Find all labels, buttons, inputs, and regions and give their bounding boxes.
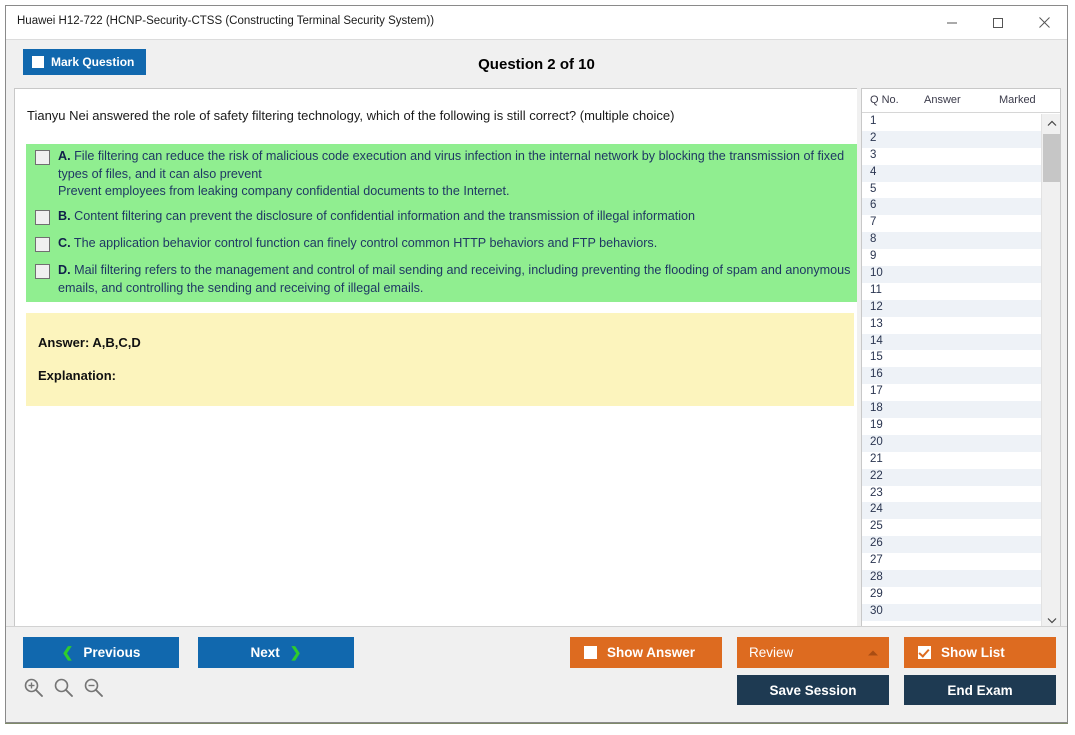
question-list-header: Q No. Answer Marked xyxy=(862,89,1060,113)
question-list-row[interactable]: 6 xyxy=(862,198,1041,215)
question-list-row[interactable]: 3 xyxy=(862,148,1041,165)
question-list-row[interactable]: 14 xyxy=(862,334,1041,351)
question-list-row-qno: 6 xyxy=(870,199,876,211)
option-a-letter: A. xyxy=(58,149,71,163)
question-list-row[interactable]: 12 xyxy=(862,300,1041,317)
question-list-row-qno: 16 xyxy=(870,368,883,380)
question-list-row-qno: 7 xyxy=(870,216,876,228)
question-list-row-qno: 3 xyxy=(870,149,876,161)
question-list-row[interactable]: 1 xyxy=(862,114,1041,131)
option-b-text: B. Content filtering can prevent the dis… xyxy=(58,208,852,226)
question-list-row[interactable]: 23 xyxy=(862,486,1041,503)
maximize-button[interactable] xyxy=(975,6,1021,39)
question-list-row[interactable]: 29 xyxy=(862,587,1041,604)
option-row-d[interactable]: D. Mail filtering refers to the manageme… xyxy=(26,258,857,302)
question-list-row-qno: 22 xyxy=(870,470,883,482)
next-button-label: Next xyxy=(251,645,280,660)
zoom-reset-icon[interactable] xyxy=(53,677,74,703)
zoom-controls xyxy=(23,677,104,703)
minimize-icon xyxy=(946,17,958,29)
chevron-right-icon: ❯ xyxy=(290,644,302,661)
show-list-button[interactable]: Show List xyxy=(904,637,1056,668)
option-row-a[interactable]: A. File filtering can reduce the risk of… xyxy=(26,144,857,206)
question-list-row-qno: 15 xyxy=(870,351,883,363)
option-c-checkbox[interactable] xyxy=(35,237,50,252)
answer-panel: Answer: A,B,C,D Explanation: xyxy=(26,313,854,406)
question-list-row-qno: 12 xyxy=(870,301,883,313)
minimize-button[interactable] xyxy=(929,6,975,39)
maximize-icon xyxy=(992,17,1004,29)
close-button[interactable] xyxy=(1021,6,1067,39)
question-list-row-qno: 20 xyxy=(870,436,883,448)
window-title: Huawei H12-722 (HCNP-Security-CTSS (Cons… xyxy=(17,15,434,27)
option-c-body: The application behavior control functio… xyxy=(74,236,657,250)
end-exam-label: End Exam xyxy=(947,683,1012,698)
question-list-row[interactable]: 4 xyxy=(862,165,1041,182)
show-answer-checkbox[interactable] xyxy=(584,646,597,659)
question-list-body[interactable]: 1234567891011121314151617181920212223242… xyxy=(862,114,1041,628)
question-list-row[interactable]: 19 xyxy=(862,418,1041,435)
chevron-left-icon: ❮ xyxy=(62,644,74,661)
show-answer-label: Show Answer xyxy=(607,645,695,660)
question-list-row-qno: 29 xyxy=(870,588,883,600)
question-list-row-qno: 11 xyxy=(870,284,882,296)
question-list-row[interactable]: 2 xyxy=(862,131,1041,148)
question-list-row-qno: 18 xyxy=(870,402,883,414)
question-list-row-qno: 5 xyxy=(870,183,876,195)
caret-up-icon xyxy=(867,645,879,660)
explanation-line: Explanation: xyxy=(38,368,854,383)
review-label: Review xyxy=(749,645,793,660)
option-d-letter: D. xyxy=(58,263,71,277)
question-list-row-qno: 27 xyxy=(870,554,883,566)
question-list-row[interactable]: 28 xyxy=(862,570,1041,587)
zoom-out-icon[interactable] xyxy=(83,677,104,703)
question-list-row[interactable]: 26 xyxy=(862,536,1041,553)
question-list-row[interactable]: 21 xyxy=(862,452,1041,469)
option-d-text: D. Mail filtering refers to the manageme… xyxy=(58,262,852,297)
bottom-toolbar: ❮ Previous Next ❯ Show Answer Review Sho… xyxy=(6,626,1067,722)
question-list-row[interactable]: 15 xyxy=(862,350,1041,367)
question-list-scrollbar[interactable] xyxy=(1041,114,1060,628)
mark-question-button[interactable]: Mark Question xyxy=(23,49,146,75)
scrollbar-thumb[interactable] xyxy=(1043,134,1060,182)
option-a-checkbox[interactable] xyxy=(35,150,50,165)
question-list-row-qno: 21 xyxy=(870,453,883,465)
option-c-letter: C. xyxy=(58,236,71,250)
question-list-row-qno: 24 xyxy=(870,503,883,515)
previous-button[interactable]: ❮ Previous xyxy=(23,637,179,668)
answer-line: Answer: A,B,C,D xyxy=(38,335,854,350)
question-list-row[interactable]: 8 xyxy=(862,232,1041,249)
scroll-up-button[interactable] xyxy=(1042,114,1061,131)
question-list-row-qno: 4 xyxy=(870,166,876,178)
mark-question-checkbox[interactable] xyxy=(32,56,44,68)
column-header-marked: Marked xyxy=(999,94,1036,106)
question-stem: Tianyu Nei answered the role of safety f… xyxy=(27,107,845,125)
question-counter: Question 2 of 10 xyxy=(6,40,1067,88)
option-c-text: C. The application behavior control func… xyxy=(58,235,852,253)
question-list-row-qno: 26 xyxy=(870,537,883,549)
question-list-row-qno: 25 xyxy=(870,520,883,532)
end-exam-button[interactable]: End Exam xyxy=(904,675,1056,705)
question-list-row-qno: 28 xyxy=(870,571,883,583)
question-list-row[interactable]: 20 xyxy=(862,435,1041,452)
question-list-row[interactable]: 13 xyxy=(862,317,1041,334)
question-list-row-qno: 2 xyxy=(870,132,876,144)
close-icon xyxy=(1038,16,1051,29)
question-list-row-qno: 19 xyxy=(870,419,883,431)
option-a-text: A. File filtering can reduce the risk of… xyxy=(58,148,852,201)
zoom-in-icon[interactable] xyxy=(23,677,44,703)
option-d-body: Mail filtering refers to the management … xyxy=(58,263,850,295)
question-list-row[interactable]: 27 xyxy=(862,553,1041,570)
question-list-row[interactable]: 18 xyxy=(862,401,1041,418)
option-b-body: Content filtering can prevent the disclo… xyxy=(74,209,695,223)
exam-application-window: Huawei H12-722 (HCNP-Security-CTSS (Cons… xyxy=(5,5,1068,723)
option-b-checkbox[interactable] xyxy=(35,210,50,225)
question-list-row-qno: 17 xyxy=(870,385,883,397)
question-list-row[interactable]: 17 xyxy=(862,384,1041,401)
question-list-panel: Q No. Answer Marked 12345678910111213141… xyxy=(861,88,1061,628)
question-list-row[interactable]: 24 xyxy=(862,502,1041,519)
question-list-row[interactable]: 10 xyxy=(862,266,1041,283)
chevron-up-icon xyxy=(1047,114,1057,132)
question-list-row[interactable]: 16 xyxy=(862,367,1041,384)
question-list-row-qno: 8 xyxy=(870,233,876,245)
review-dropdown[interactable]: Review xyxy=(737,637,889,668)
question-list-row[interactable]: 5 xyxy=(862,182,1041,199)
mark-question-label: Mark Question xyxy=(51,55,134,69)
question-list-row-qno: 30 xyxy=(870,605,883,617)
show-list-label: Show List xyxy=(941,645,1005,660)
question-list-row[interactable]: 30 xyxy=(862,604,1041,621)
next-button[interactable]: Next ❯ xyxy=(198,637,354,668)
question-list-row-qno: 13 xyxy=(870,318,883,330)
option-d-checkbox[interactable] xyxy=(35,264,50,279)
show-answer-button[interactable]: Show Answer xyxy=(570,637,722,668)
question-list-row[interactable]: 9 xyxy=(862,249,1041,266)
question-list-row[interactable]: 22 xyxy=(862,469,1041,486)
save-session-button[interactable]: Save Session xyxy=(737,675,889,705)
column-header-answer: Answer xyxy=(924,94,961,106)
save-session-label: Save Session xyxy=(769,683,856,698)
question-list-row-qno: 23 xyxy=(870,487,883,499)
column-header-qno: Q No. xyxy=(870,94,899,106)
question-list-row[interactable]: 11 xyxy=(862,283,1041,300)
question-list-row[interactable]: 7 xyxy=(862,215,1041,232)
header-bar: Mark Question Question 2 of 10 xyxy=(6,40,1067,88)
question-list-row-qno: 1 xyxy=(870,115,876,127)
question-list-row[interactable]: 25 xyxy=(862,519,1041,536)
option-b-letter: B. xyxy=(58,209,71,223)
option-row-c[interactable]: C. The application behavior control func… xyxy=(26,231,857,258)
option-a-body: File filtering can reduce the risk of ma… xyxy=(58,149,844,198)
previous-button-label: Previous xyxy=(83,645,140,660)
title-bar: Huawei H12-722 (HCNP-Security-CTSS (Cons… xyxy=(6,6,1067,40)
option-row-b[interactable]: B. Content filtering can prevent the dis… xyxy=(26,204,857,231)
question-list-row-qno: 9 xyxy=(870,250,876,262)
question-list-row-qno: 10 xyxy=(870,267,883,279)
question-list-row-qno: 14 xyxy=(870,335,883,347)
show-list-checkbox[interactable] xyxy=(918,646,931,659)
